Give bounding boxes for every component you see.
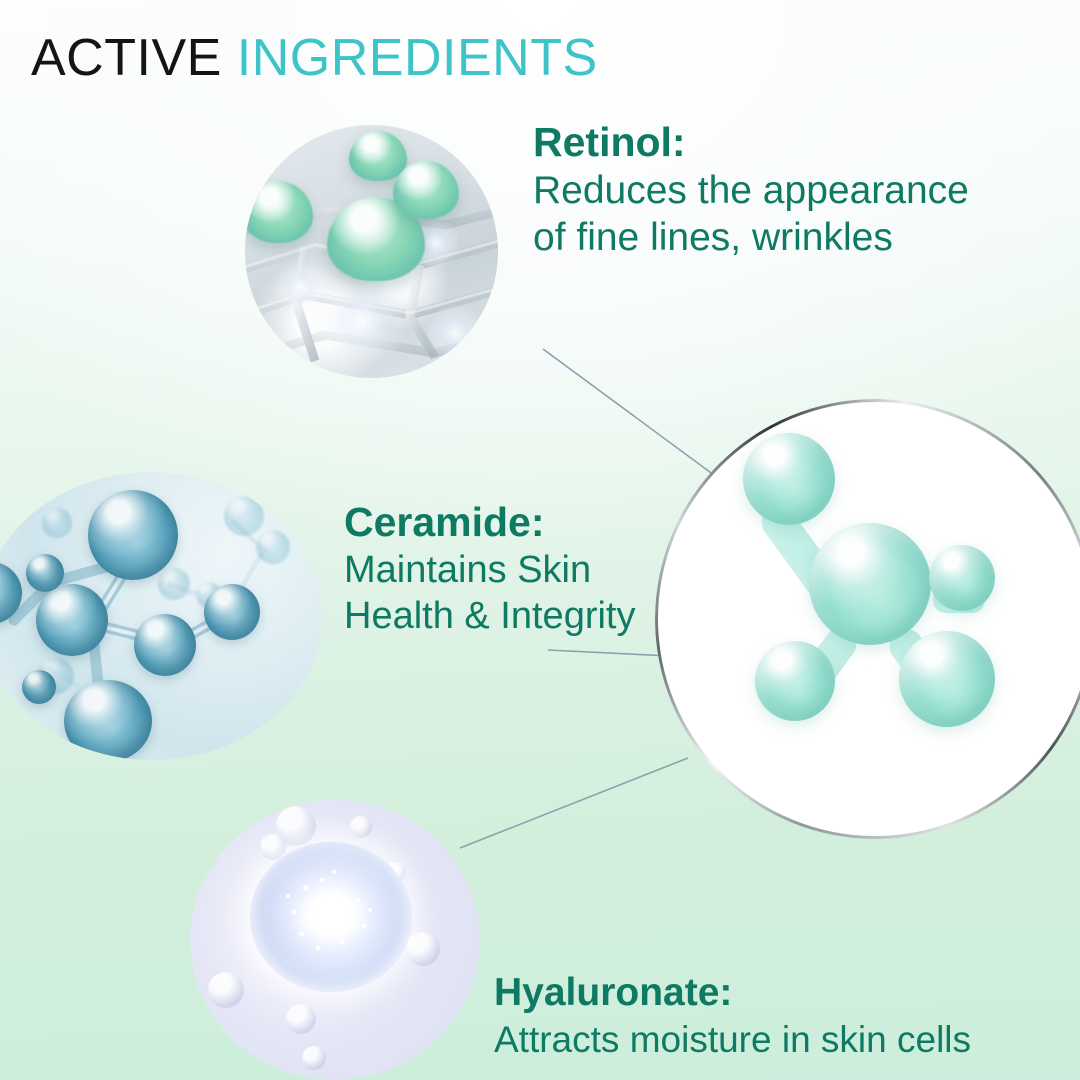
- hyaluronate-connector: [460, 758, 688, 848]
- hyaluronate-text-block: Hyaluronate: Attracts moisture in skin c…: [494, 970, 971, 1062]
- retinol-text-block: Retinol: Reduces the appearance of fine …: [533, 118, 969, 262]
- retinol-connector: [543, 349, 718, 478]
- ceramide-bubble-faint-2: [256, 530, 290, 564]
- hyaluronate-bubble-4: [208, 972, 244, 1008]
- ceramide-bubble-right: [134, 614, 196, 676]
- ceramide-bubble-faint-1: [224, 496, 264, 536]
- retinol-line-2: of fine lines, wrinkles: [533, 215, 969, 262]
- ceramide-line-2: Health & Integrity: [344, 594, 635, 640]
- hyaluronate-bubble-8: [302, 1046, 326, 1070]
- hero-atom-center: [809, 523, 931, 645]
- ceramide-connector: [548, 650, 670, 656]
- infographic-canvas: ACTIVE INGREDIENTS: [0, 0, 1080, 1080]
- hyaluronate-bubble-5: [286, 1004, 316, 1034]
- hero-molecule-circle: [661, 405, 1080, 833]
- retinol-bubble-top: [349, 131, 407, 181]
- retinol-bubble-right: [393, 161, 459, 219]
- ceramide-heading: Ceramide:: [344, 498, 635, 546]
- hero-atom-right: [929, 545, 995, 611]
- ceramide-bubble-far-right: [204, 584, 260, 640]
- hyaluronate-image-circle: [190, 800, 480, 1080]
- retinol-line-1: Reduces the appearance: [533, 168, 969, 215]
- ceramide-bubble-top: [88, 490, 178, 580]
- ceramide-bubble-faint-3: [158, 568, 190, 600]
- hyaluronate-bubble-6: [350, 816, 372, 838]
- title-word-ingredients: INGREDIENTS: [237, 29, 598, 87]
- retinol-image-circle: [245, 125, 498, 378]
- ceramide-bubble-bottom: [64, 680, 152, 760]
- title-word-active: ACTIVE: [31, 29, 222, 87]
- ceramide-bubble-lower-left: [22, 670, 56, 704]
- ceramide-text-block: Ceramide: Maintains Skin Health & Integr…: [344, 498, 635, 640]
- hero-atom-upper-left: [743, 433, 835, 525]
- hero-atom-lower-right: [899, 631, 995, 727]
- hero-atom-lower-left: [755, 641, 835, 721]
- ceramide-image-circle: [0, 472, 322, 760]
- page-title: ACTIVE INGREDIENTS: [31, 32, 598, 84]
- hyaluronate-sparkles: [250, 842, 412, 992]
- retinol-heading: Retinol:: [533, 118, 969, 166]
- hyaluronate-heading: Hyaluronate:: [494, 970, 971, 1016]
- ceramide-bubble-faint-6: [42, 508, 72, 538]
- ceramide-bubble-center: [36, 584, 108, 656]
- ceramide-line-1: Maintains Skin: [344, 548, 635, 594]
- hyaluronate-line-1: Attracts moisture in skin cells: [494, 1018, 971, 1062]
- ceramide-bubble-small-left: [26, 554, 64, 592]
